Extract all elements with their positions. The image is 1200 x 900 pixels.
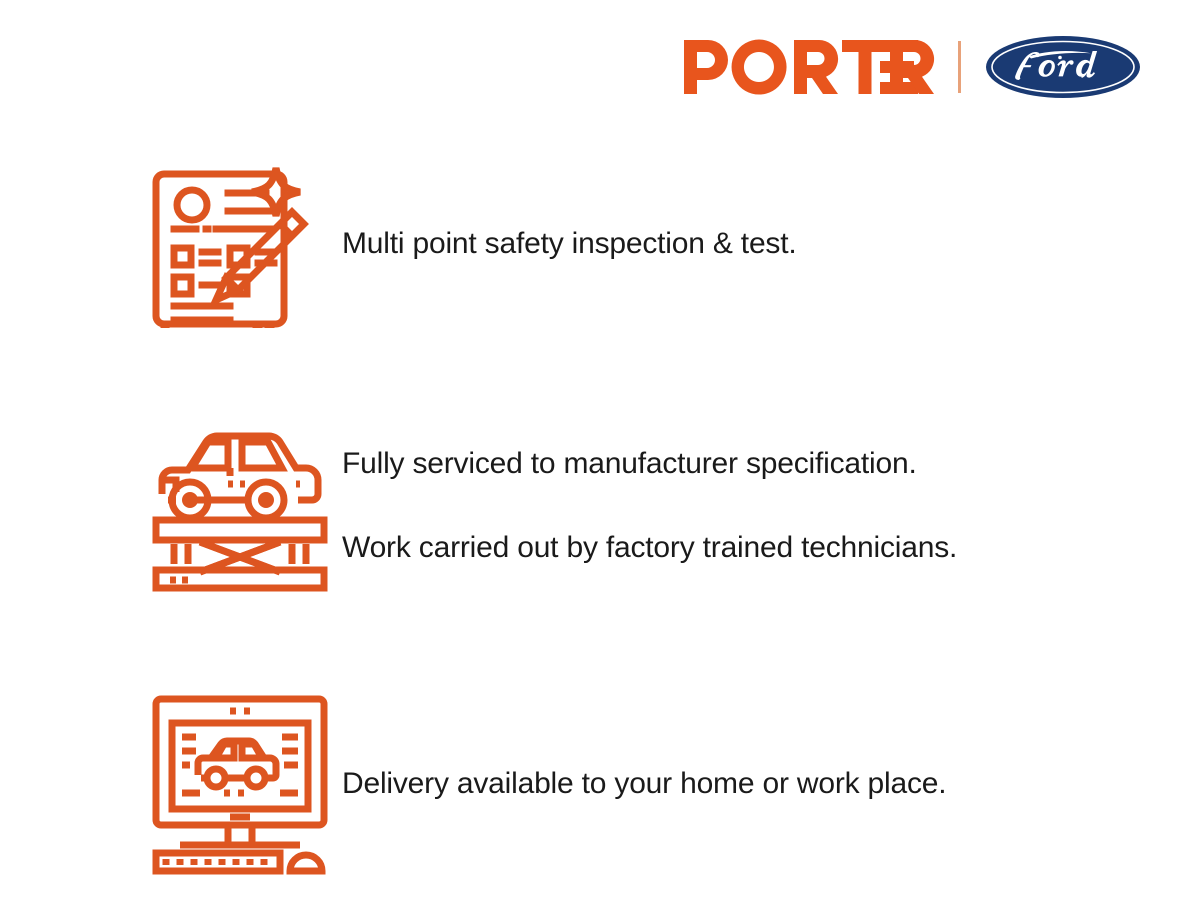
feature-item-delivery: Delivery available to your home or work … — [140, 693, 1140, 875]
feature-line: Multi point safety inspection & test. — [342, 223, 1140, 265]
feature-item-inspection: Multi point safety inspection & test. — [140, 156, 1140, 331]
brand-header — [684, 28, 1141, 106]
feature-line: Delivery available to your home or work … — [342, 763, 1140, 805]
porter-logo — [684, 38, 936, 96]
feature-list: Multi point safety inspection & test. — [140, 150, 1140, 875]
feature-text-serviced: Fully serviced to manufacturer specifica… — [330, 401, 1140, 611]
feature-text-inspection: Multi point safety inspection & test. — [330, 181, 1140, 307]
ford-logo — [985, 35, 1141, 99]
service-benefits-page: Multi point safety inspection & test. — [0, 0, 1200, 900]
feature-line: Work carried out by factory trained tech… — [342, 527, 1140, 569]
feature-icon-wrapper — [140, 160, 330, 328]
checklist-clipboard-pencil-icon — [150, 160, 318, 328]
brand-divider — [958, 41, 961, 93]
desktop-computer-car-delivery-icon — [150, 693, 330, 875]
feature-line: Fully serviced to manufacturer specifica… — [342, 443, 1140, 485]
feature-text-delivery: Delivery available to your home or work … — [330, 721, 1140, 847]
feature-icon-wrapper — [140, 418, 330, 594]
feature-icon-wrapper — [140, 693, 330, 875]
feature-item-serviced: Fully serviced to manufacturer specifica… — [140, 401, 1140, 611]
car-on-scissor-lift-icon — [150, 418, 330, 594]
